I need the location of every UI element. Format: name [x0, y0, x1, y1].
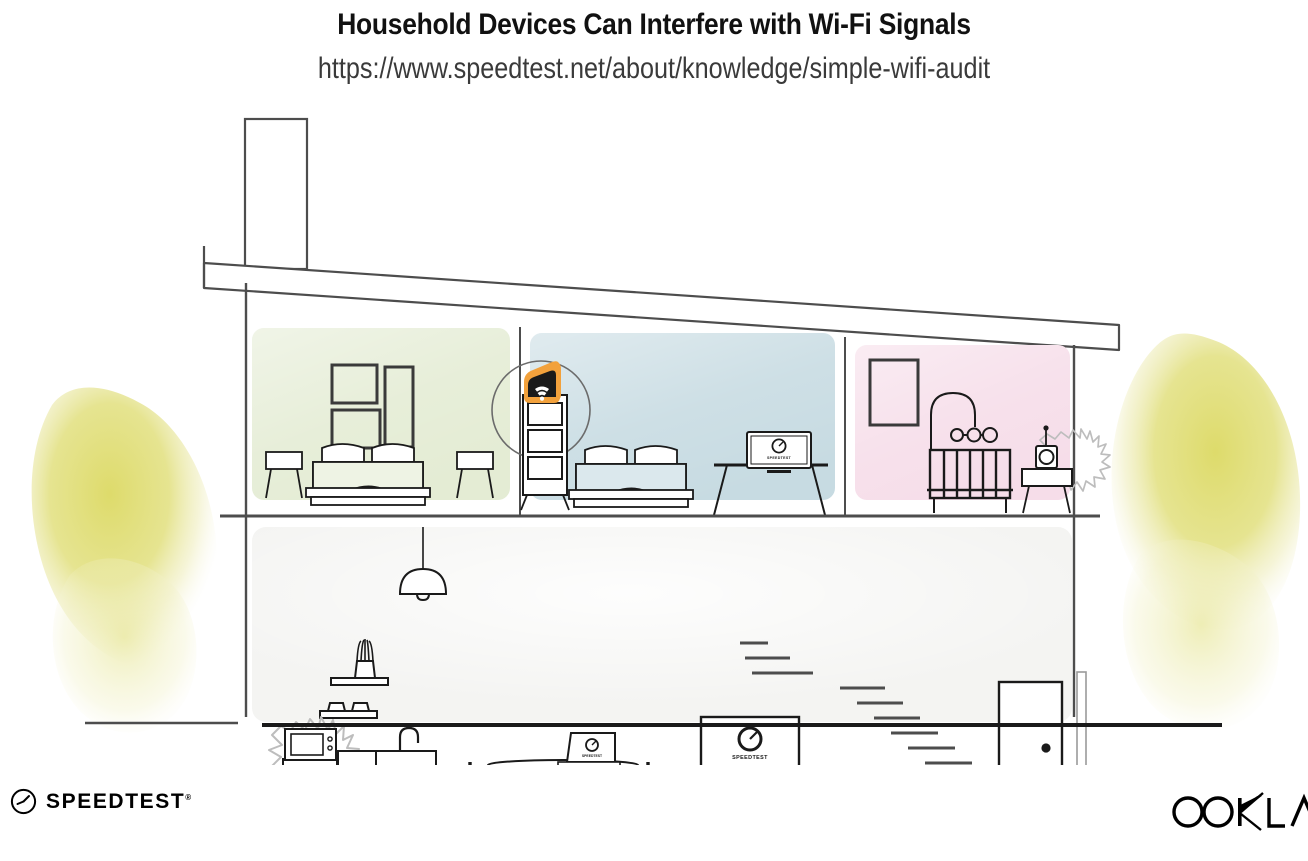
page-title: Household Devices Can Interfere with Wi-…	[78, 8, 1229, 42]
page-footer: SPEEDTEST® ®	[0, 766, 1308, 861]
ookla-logo[interactable]: ®	[1166, 790, 1308, 834]
speedtest-wordmark-text: SPEEDTEST	[46, 790, 185, 813]
speedtest-trademark: ®	[185, 793, 191, 802]
chimney	[245, 119, 307, 269]
tv-screen-label: SPEEDTEST	[732, 755, 768, 761]
speedtest-logo[interactable]: SPEEDTEST®	[10, 788, 191, 815]
laptop-screen-label: SPEEDTEST	[582, 754, 603, 758]
door-side-panel	[1077, 672, 1086, 765]
ookla-k-glyph	[1238, 793, 1263, 830]
door-knob-icon	[1041, 743, 1050, 752]
house-cutaway-illustration: SPEEDTEST	[0, 105, 1308, 765]
wifi-router[interactable]	[524, 361, 561, 403]
room-ground-floor	[252, 527, 1072, 722]
foliage-left	[32, 388, 217, 733]
kitchen-faucet	[400, 728, 418, 751]
monitor-blue-room[interactable]: SPEEDTEST	[747, 432, 811, 473]
page-url: https://www.speedtest.net/about/knowledg…	[105, 52, 1204, 86]
speedtest-gauge-icon	[10, 788, 37, 815]
speedtest-wordmark: SPEEDTEST®	[46, 790, 191, 814]
laptop-dining[interactable]: SPEEDTEST	[558, 733, 620, 765]
foliage-right	[1112, 333, 1301, 729]
monitor-screen-label: SPEEDTEST	[767, 456, 792, 460]
microwave[interactable]	[285, 729, 336, 760]
shelf-unit	[521, 395, 569, 510]
page-header: Household Devices Can Interfere with Wi-…	[0, 0, 1308, 86]
